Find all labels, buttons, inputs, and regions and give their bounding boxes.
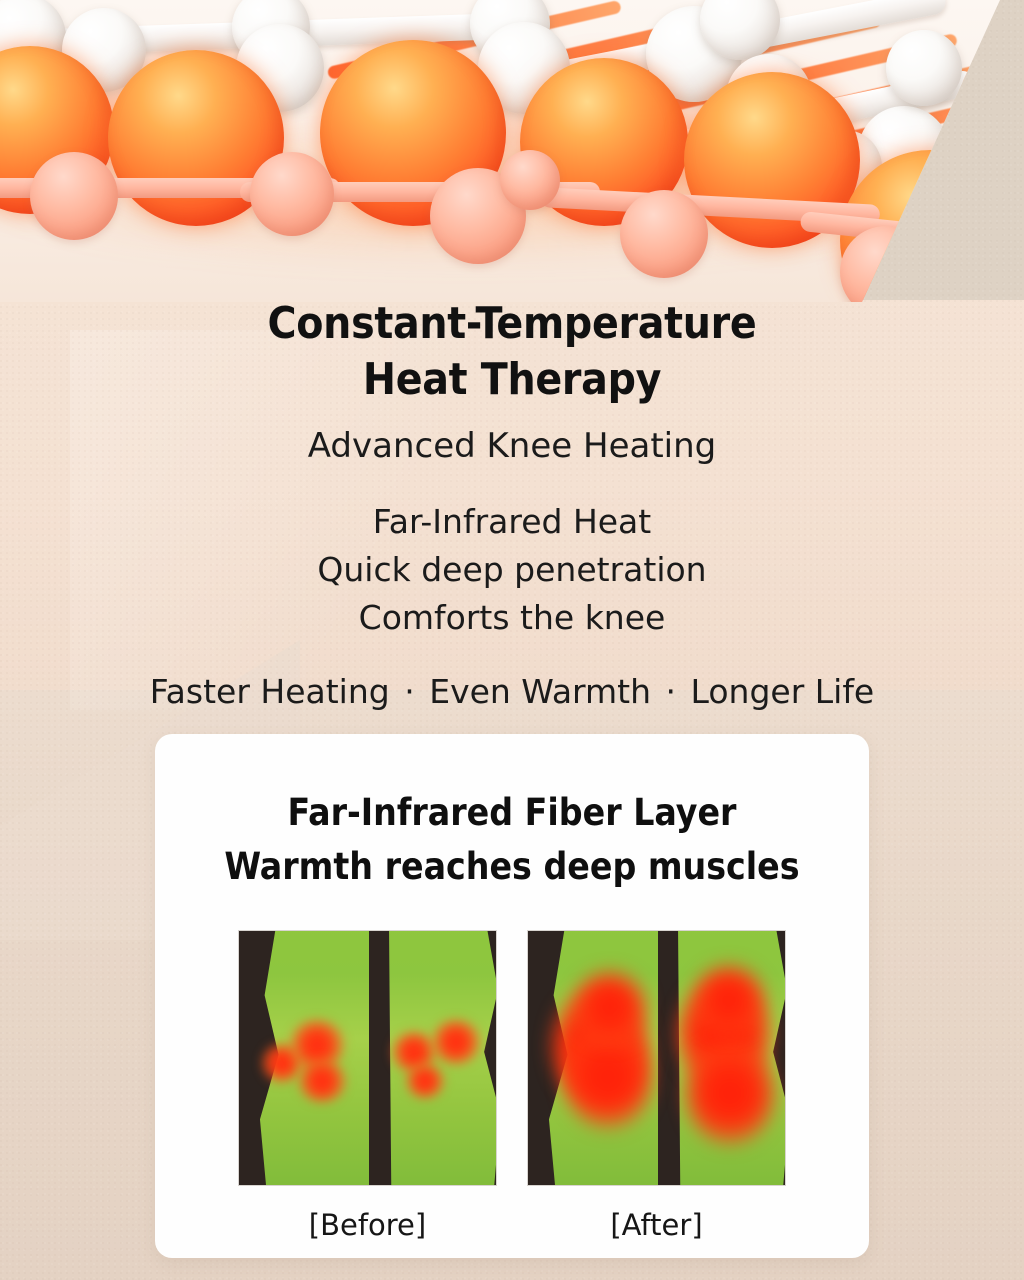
card-title-line-2: Warmth reaches deep muscles <box>155 840 869 894</box>
pink-molecule-sphere <box>30 152 118 240</box>
card-title-line-1: Far-Infrared Fiber Layer <box>155 786 869 840</box>
thermal-image-before <box>238 930 497 1186</box>
pink-molecule-sphere <box>500 150 560 210</box>
benefit-item: Longer Life <box>691 672 875 711</box>
feature-line: Far-Infrared Heat <box>0 498 1024 546</box>
page-title-line-1: Constant-Temperature <box>0 296 1024 352</box>
feature-line: Comforts the knee <box>0 594 1024 642</box>
tagline-separator: · <box>400 672 419 711</box>
thermal-panel-before: [Before] <box>238 930 497 1242</box>
benefits-tagline: Faster Heating · Even Warmth · Longer Li… <box>0 672 1024 712</box>
pink-molecule-sphere <box>620 190 708 278</box>
page-title-line-2: Heat Therapy <box>0 352 1024 408</box>
feature-line: Quick deep penetration <box>0 546 1024 594</box>
panel-caption: [Before] <box>238 1208 497 1242</box>
page-subtitle: Advanced Knee Heating <box>0 426 1024 467</box>
leg-silhouette <box>542 930 658 1186</box>
hero-molecular-illustration <box>0 0 1024 302</box>
infographic-page: Constant-Temperature Heat Therapy Advanc… <box>0 0 1024 1280</box>
leg-silhouette <box>253 930 369 1186</box>
comparison-card: Far-Infrared Fiber Layer Warmth reaches … <box>155 734 869 1258</box>
panel-caption: [After] <box>527 1208 786 1242</box>
white-molecule-sphere <box>886 30 962 106</box>
thermal-image-after <box>527 930 786 1186</box>
thermal-comparison: [Before] [After] <box>155 930 869 1242</box>
tagline-separator: · <box>662 672 681 711</box>
feature-body-text: Far-Infrared Heat Quick deep penetration… <box>0 498 1024 642</box>
copy-block: Constant-Temperature Heat Therapy Advanc… <box>0 296 1024 712</box>
thermal-panel-after: [After] <box>527 930 786 1242</box>
page-title: Constant-Temperature Heat Therapy <box>0 296 1024 409</box>
leg-silhouette <box>678 930 786 1186</box>
pink-molecule-sphere <box>250 152 334 236</box>
leg-silhouette <box>389 930 497 1186</box>
card-title: Far-Infrared Fiber Layer Warmth reaches … <box>155 786 869 895</box>
benefit-item: Faster Heating <box>150 672 390 711</box>
benefit-item: Even Warmth <box>429 672 651 711</box>
